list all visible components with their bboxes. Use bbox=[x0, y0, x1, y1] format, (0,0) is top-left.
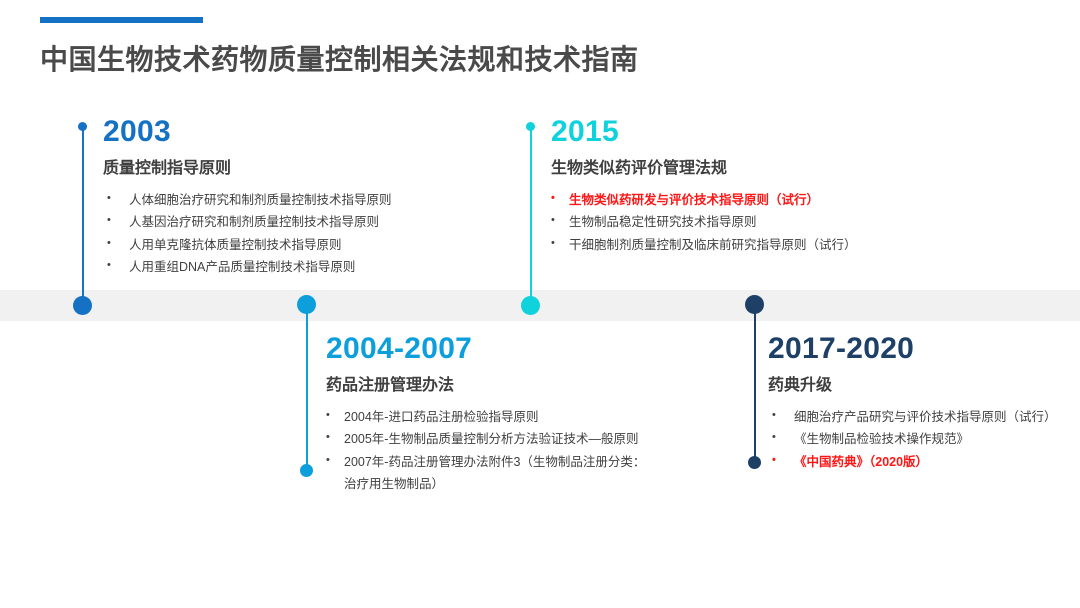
list-item: 干细胞制剂质量控制及临床前研究指导原则（试行） bbox=[551, 234, 857, 256]
timeline-dot-2017-2020[interactable] bbox=[745, 295, 764, 314]
event-bullets-2015: 生物类似药研发与评价技术指导原则（试行） 生物制品稳定性研究技术指导原则 干细胞… bbox=[551, 189, 857, 256]
event-year-2015: 2015 bbox=[551, 117, 857, 147]
event-block-2015: 2015 生物类似药评价管理法规 生物类似药研发与评价技术指导原则（试行） 生物… bbox=[551, 117, 857, 256]
event-bullets-2003: 人体细胞治疗研究和制剂质量控制技术指导原则 人基因治疗研究和制剂质量控制技术指导… bbox=[103, 189, 392, 278]
list-item: 2007年-药品注册管理办法附件3（生物制品注册分类：治疗用生物制品） bbox=[326, 451, 656, 496]
list-item: 《生物制品检验技术操作规范》 bbox=[768, 428, 1057, 450]
event-year-2004-2007: 2004-2007 bbox=[326, 334, 656, 364]
list-item: 人体细胞治疗研究和制剂质量控制技术指导原则 bbox=[103, 189, 392, 211]
connector-line-2003 bbox=[82, 126, 84, 306]
timeline-dot-top-2015 bbox=[526, 122, 535, 131]
event-year-2017-2020: 2017-2020 bbox=[768, 334, 1057, 364]
list-item: 细胞治疗产品研究与评价技术指导原则（试行） bbox=[768, 406, 1057, 428]
list-item: 2005年-生物制品质量控制分析方法验证技术—般原则 bbox=[326, 428, 656, 450]
event-subtitle-2003: 质量控制指导原则 bbox=[103, 154, 392, 178]
event-subtitle-2017-2020: 药典升级 bbox=[768, 371, 1057, 395]
list-item: 生物制品稳定性研究技术指导原则 bbox=[551, 211, 857, 233]
event-subtitle-2004-2007: 药品注册管理办法 bbox=[326, 371, 656, 395]
timeline-dot-2004-2007[interactable] bbox=[297, 295, 316, 314]
list-item: 生物类似药研发与评价技术指导原则（试行） bbox=[551, 189, 857, 211]
slide-canvas: 中国生物技术药物质量控制相关法规和技术指南 2003 质量控制指导原则 人体细胞… bbox=[0, 0, 1080, 608]
event-block-2004-2007: 2004-2007 药品注册管理办法 2004年-进口药品注册检验指导原则 20… bbox=[326, 334, 656, 495]
event-block-2003: 2003 质量控制指导原则 人体细胞治疗研究和制剂质量控制技术指导原则 人基因治… bbox=[103, 117, 392, 278]
page-title: 中国生物技术药物质量控制相关法规和技术指南 bbox=[40, 38, 639, 78]
connector-line-2004-2007 bbox=[306, 300, 308, 471]
timeline-dot-2015[interactable] bbox=[521, 296, 540, 315]
timeline-dot-2003[interactable] bbox=[73, 296, 92, 315]
event-subtitle-2015: 生物类似药评价管理法规 bbox=[551, 154, 857, 178]
list-item: 《中国药典》（2020版） bbox=[768, 451, 1057, 473]
connector-line-2015 bbox=[530, 126, 532, 306]
timeline-dot-top-2003 bbox=[78, 122, 87, 131]
list-item: 2004年-进口药品注册检验指导原则 bbox=[326, 406, 656, 428]
event-bullets-2004-2007: 2004年-进口药品注册检验指导原则 2005年-生物制品质量控制分析方法验证技… bbox=[326, 406, 656, 495]
event-bullets-2017-2020: 细胞治疗产品研究与评价技术指导原则（试行） 《生物制品检验技术操作规范》 《中国… bbox=[768, 406, 1057, 473]
timeline-band bbox=[0, 290, 1080, 321]
event-year-2003: 2003 bbox=[103, 117, 392, 147]
timeline-dot-bottom-2004-2007 bbox=[300, 464, 313, 477]
connector-line-2017-2020 bbox=[754, 300, 756, 463]
list-item: 人用单克隆抗体质量控制技术指导原则 bbox=[103, 234, 392, 256]
title-accent-bar bbox=[40, 17, 203, 23]
event-block-2017-2020: 2017-2020 药典升级 细胞治疗产品研究与评价技术指导原则（试行） 《生物… bbox=[768, 334, 1057, 473]
list-item: 人基因治疗研究和制剂质量控制技术指导原则 bbox=[103, 211, 392, 233]
list-item: 人用重组DNA产品质量控制技术指导原则 bbox=[103, 256, 392, 278]
timeline-dot-bottom-2017-2020 bbox=[748, 456, 761, 469]
